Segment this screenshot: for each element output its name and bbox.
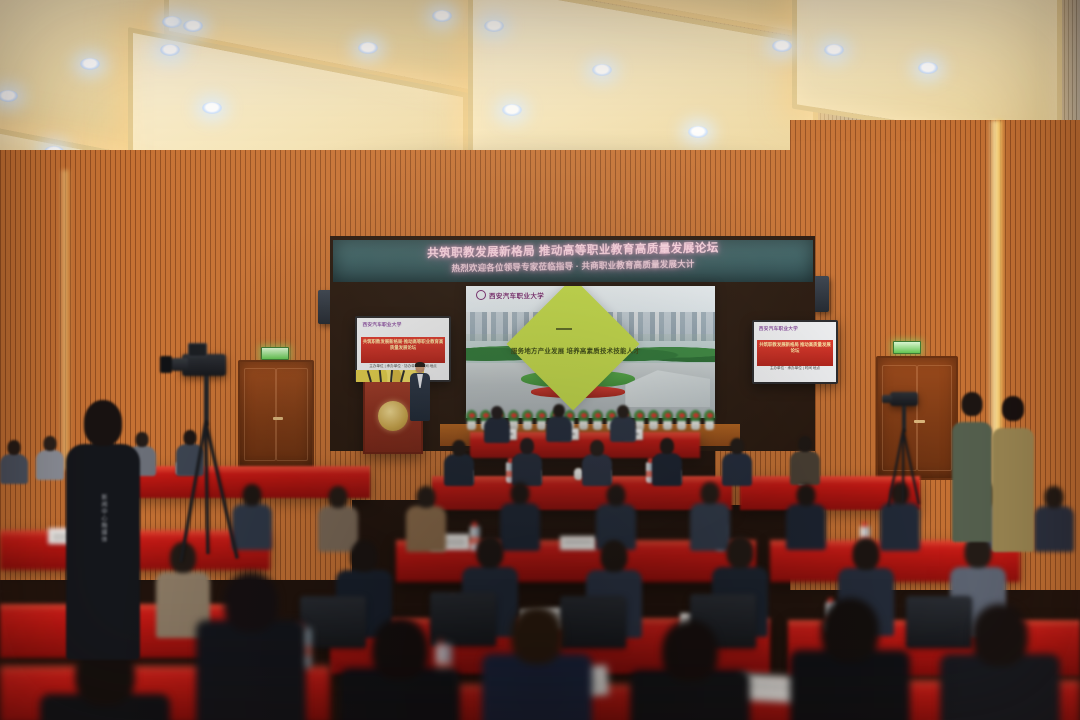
- tripod-camera-rig-right: [880, 388, 950, 518]
- seated-attendee: [790, 436, 820, 484]
- seated-attendee: [196, 572, 306, 720]
- seated-attendee: [482, 606, 592, 720]
- seated-attendee: [546, 404, 572, 440]
- seated-attendee: [318, 486, 358, 548]
- led-banner: 共筑职教发展新格局 推动高等职业教育高质量发展论坛 热烈欢迎各位领导专家莅临指导…: [333, 240, 813, 282]
- ceiling-downlight-icon: [202, 102, 222, 114]
- camera-monitor-icon: [188, 343, 207, 357]
- ceiling-downlight-icon: [688, 126, 708, 138]
- standing-attendee: [992, 396, 1034, 552]
- seated-attendee: [786, 484, 826, 548]
- slide-logo-text: 西安汽车职业大学: [489, 290, 544, 300]
- seated-attendee: [790, 598, 910, 720]
- ceiling-downlight-icon: [772, 40, 792, 52]
- side-display-right-subtitle: 主办单位 · 承办单位 | 时间 地点: [759, 366, 831, 371]
- camera-hood-icon: [160, 356, 172, 373]
- seated-attendee: [484, 406, 510, 440]
- ceiling-downlight-icon: [183, 20, 203, 32]
- university-seal-icon: [476, 290, 486, 300]
- camera-operator-jacket-text: 新闻中心融媒体: [99, 492, 107, 544]
- exit-sign-icon: [893, 341, 921, 354]
- video-camera-icon: [890, 392, 918, 406]
- camera-lens-icon: [882, 395, 892, 403]
- ceiling-downlight-icon: [80, 58, 100, 70]
- seated-attendee: [444, 440, 474, 484]
- camera-operator: 新闻中心融媒体: [66, 400, 140, 660]
- slide-diamond-divider: [556, 328, 572, 329]
- side-display-left-banner: 共筑职教发展新格局·推动高等职业教育高质量发展论坛: [361, 337, 446, 364]
- side-display-left-header: 西安汽车职业大学: [363, 322, 402, 328]
- seated-attendee: [406, 486, 446, 548]
- side-display-right-banner: 共筑职教发展新格局 推动高质量发展论坛: [757, 340, 832, 366]
- tripod-camera-rig-left: [160, 338, 280, 568]
- seated-attendee: [1034, 486, 1074, 548]
- side-display-right-header: 西安汽车职业大学: [759, 326, 798, 332]
- seated-attendee: [512, 438, 542, 484]
- ceiling-downlight-icon: [592, 64, 612, 76]
- ceiling-downlight-icon: [918, 62, 938, 74]
- seated-attendee: [652, 438, 682, 484]
- ceiling-downlight-icon: [162, 16, 182, 28]
- ceiling-downlight-icon: [160, 44, 180, 56]
- seated-attendee: [630, 620, 750, 720]
- seated-attendee: [940, 604, 1060, 720]
- slide-diamond-caption: 服务地方产业发展 培养高素质技术技能人才: [511, 347, 640, 356]
- ceiling-downlight-icon: [484, 20, 504, 32]
- video-camera-icon: [182, 354, 226, 376]
- seated-attendee: [722, 438, 752, 484]
- slide-university-logo: 西安汽车职业大学: [476, 290, 544, 300]
- seated-attendee: [582, 440, 612, 484]
- seated-attendee: [340, 618, 460, 720]
- ceiling-downlight-icon: [432, 10, 452, 22]
- seated-attendee: [36, 436, 64, 478]
- seated-attendee: [0, 440, 28, 482]
- side-display-right: 西安汽车职业大学 共筑职教发展新格局 推动高质量发展论坛 主办单位 · 承办单位…: [752, 320, 838, 384]
- camera-lens-icon: [172, 358, 188, 371]
- conference-hall-photo: 共筑职教发展新格局 推动高等职业教育高质量发展论坛 热烈欢迎各位领导专家莅临指导…: [0, 0, 1080, 720]
- standing-attendee: [952, 392, 992, 542]
- ceiling-downlight-icon: [502, 104, 522, 116]
- seated-attendee: [596, 484, 636, 548]
- ceiling-downlight-icon: [358, 42, 378, 54]
- seated-attendee: [610, 405, 636, 440]
- ceiling-downlight-icon: [824, 44, 844, 56]
